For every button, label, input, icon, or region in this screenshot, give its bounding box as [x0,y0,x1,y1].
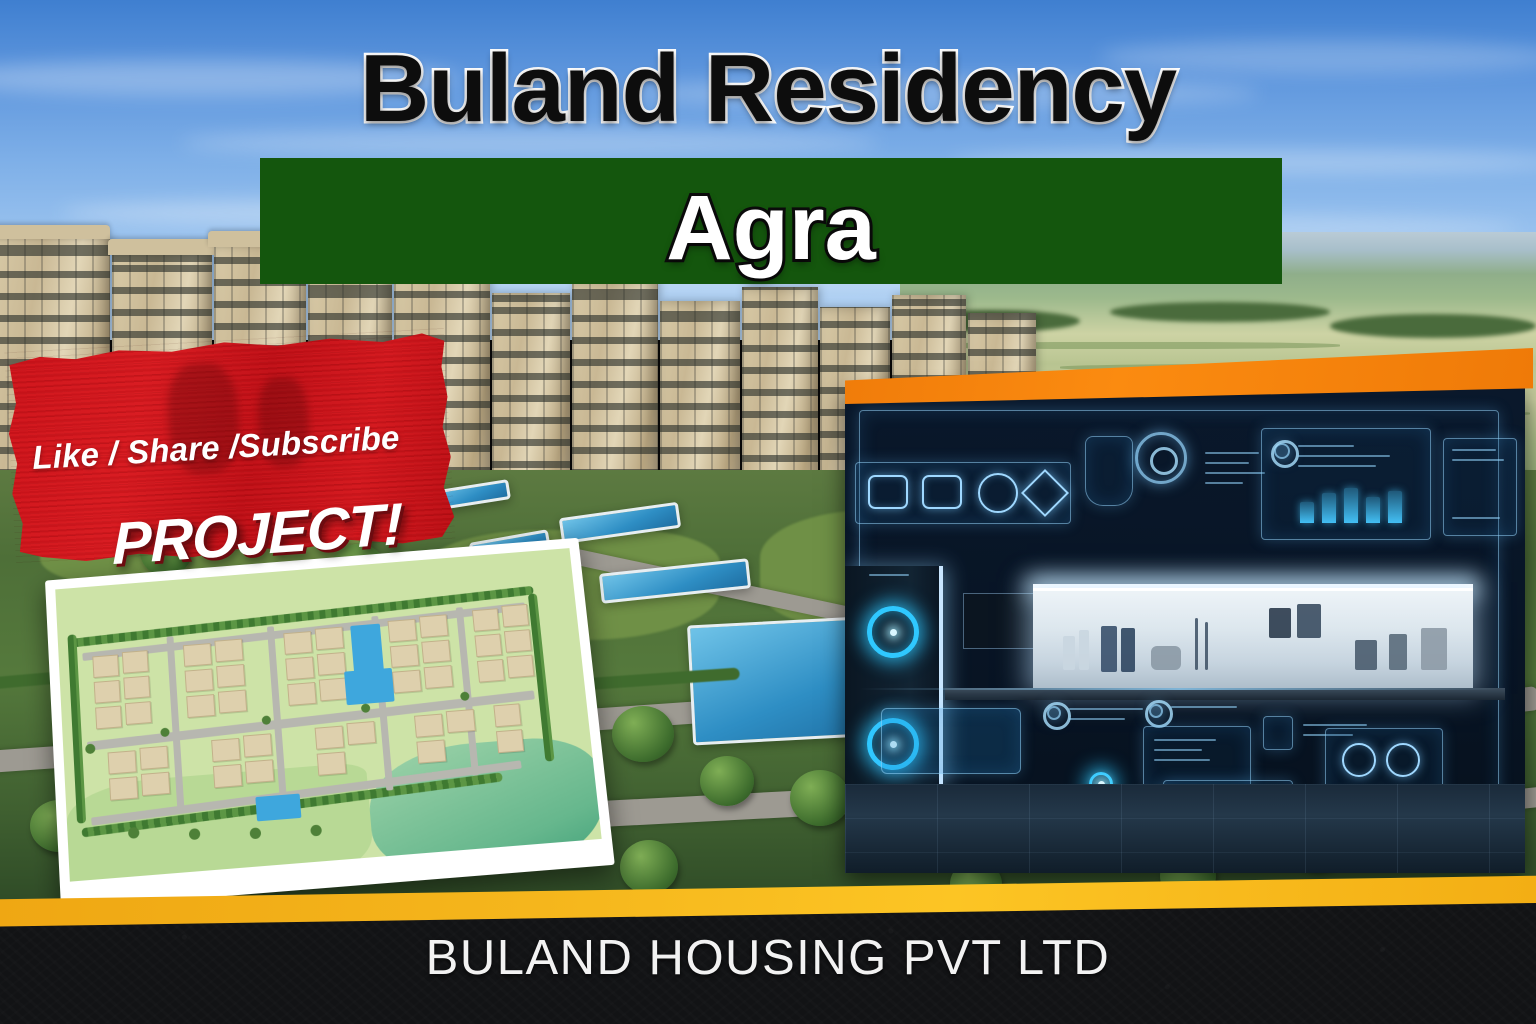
hud-bar-chart [1296,467,1412,523]
fridge-ring-indicator-icon [867,606,919,658]
appliance-icon[interactable] [922,475,962,509]
gear-hologram-icon [1135,432,1187,484]
gear-diamond-icon[interactable] [1021,469,1069,517]
site-plan-drawing [55,548,601,882]
company-name: BULAND HOUSING PVT LTD [0,930,1536,986]
built-in-oven [963,593,1035,649]
pan-icon[interactable] [868,475,908,509]
status-dot-icon [1149,704,1163,718]
wrench-icon[interactable] [978,473,1018,513]
appliance-hologram [1085,436,1133,506]
hud-info-panel [1143,726,1251,788]
hud-badge [1263,716,1293,750]
status-dot-icon [1274,443,1290,459]
page-title: Buland Residency [0,34,1536,144]
smart-kitchen-panel [845,388,1525,873]
kitchen-backsplash [1033,588,1473,688]
hud-chart-panel [1261,428,1431,540]
subtitle-location: Agra [260,176,1282,281]
hud-side-panel [1443,438,1517,536]
appliance-scan-hologram [881,708,1021,774]
hud-icon-bar [855,462,1071,524]
site-plan-card[interactable] [45,538,615,910]
poster-root: Buland Residency Agra Like / Share /Subs… [0,0,1536,1024]
dial-icon [1342,743,1376,777]
dial-icon [1386,743,1420,777]
status-dot-icon [1047,706,1061,720]
kitchen-floor [845,784,1525,873]
